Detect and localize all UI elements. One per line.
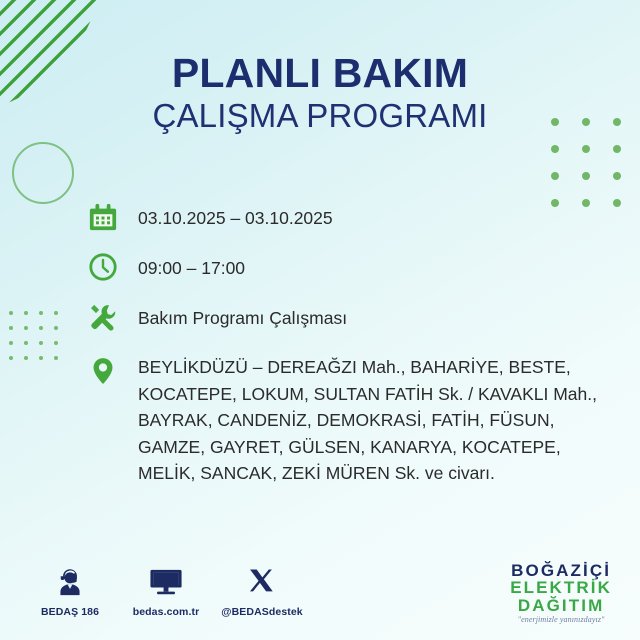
- contact-phone[interactable]: BEDAŞ 186: [22, 564, 118, 618]
- calendar-icon: [86, 200, 120, 234]
- dot: [582, 145, 590, 153]
- dot: [39, 341, 43, 345]
- dot: [9, 341, 13, 345]
- dot: [54, 311, 58, 315]
- date-range-text: 03.10.2025 – 03.10.2025: [138, 200, 333, 232]
- dot: [9, 326, 13, 330]
- call-center-agent-icon: [22, 564, 118, 600]
- dot: [24, 356, 28, 360]
- x-twitter-icon: [214, 564, 310, 600]
- clock-icon: [86, 250, 120, 284]
- bedas-logo: BOĞAZİÇİ ELEKTRİK DAĞITIM "enerjimizle y…: [510, 562, 612, 624]
- logo-line-dagitim: DAĞITIM: [510, 597, 612, 614]
- info-row-time: 09:00 – 17:00: [86, 250, 598, 284]
- poster-footer: BEDAŞ 186 bedas.com.t: [0, 550, 640, 640]
- page-subtitle: ÇALIŞMA PROGRAMI: [0, 97, 640, 136]
- dot-grid-decoration-left: [9, 311, 69, 371]
- contact-channels: BEDAŞ 186 bedas.com.t: [22, 564, 310, 618]
- dot: [613, 199, 621, 207]
- dot: [39, 356, 43, 360]
- dot: [54, 341, 58, 345]
- dot: [9, 311, 13, 315]
- info-row-date: 03.10.2025 – 03.10.2025: [86, 200, 598, 234]
- circle-outline-decoration: [12, 142, 74, 204]
- time-range-text: 09:00 – 17:00: [138, 250, 245, 282]
- dot: [582, 172, 590, 180]
- dot: [551, 172, 559, 180]
- page-title: PLANLI BAKIM: [0, 52, 640, 95]
- dot: [24, 326, 28, 330]
- contact-website[interactable]: bedas.com.tr: [118, 564, 214, 618]
- dot: [9, 356, 13, 360]
- dot: [39, 326, 43, 330]
- work-type-text: Bakım Programı Çalışması: [138, 300, 347, 332]
- logo-line-elektrik: ELEKTRİK: [510, 579, 612, 596]
- location-text: BEYLİKDÜZÜ – DEREAĞZI Mah., BAHARİYE, BE…: [138, 352, 598, 487]
- info-row-work-type: Bakım Programı Çalışması: [86, 300, 598, 334]
- map-pin-icon: [86, 354, 120, 388]
- dot: [24, 311, 28, 315]
- tools-icon: [86, 300, 120, 334]
- contact-website-label: bedas.com.tr: [118, 606, 214, 618]
- info-list: 03.10.2025 – 03.10.2025 09:00 – 17:00: [86, 200, 598, 501]
- dot: [613, 172, 621, 180]
- poster-header: PLANLI BAKIM ÇALIŞMA PROGRAMI: [0, 52, 640, 136]
- dot: [613, 145, 621, 153]
- planned-maintenance-poster: PLANLI BAKIM ÇALIŞMA PROGRAMI: [0, 0, 640, 640]
- dot: [24, 341, 28, 345]
- logo-line-bogazici: BOĞAZİÇİ: [510, 562, 612, 579]
- contact-x-label: @BEDASdestek: [214, 606, 310, 618]
- contact-phone-label: BEDAŞ 186: [22, 606, 118, 618]
- contact-x-twitter[interactable]: @BEDASdestek: [214, 564, 310, 618]
- dot: [54, 356, 58, 360]
- info-row-location: BEYLİKDÜZÜ – DEREAĞZI Mah., BAHARİYE, BE…: [86, 352, 598, 487]
- logo-slogan: "enerjimizle yanınızdayız": [510, 616, 612, 624]
- monitor-icon: [118, 564, 214, 600]
- dot: [551, 145, 559, 153]
- dot: [54, 326, 58, 330]
- dot: [39, 311, 43, 315]
